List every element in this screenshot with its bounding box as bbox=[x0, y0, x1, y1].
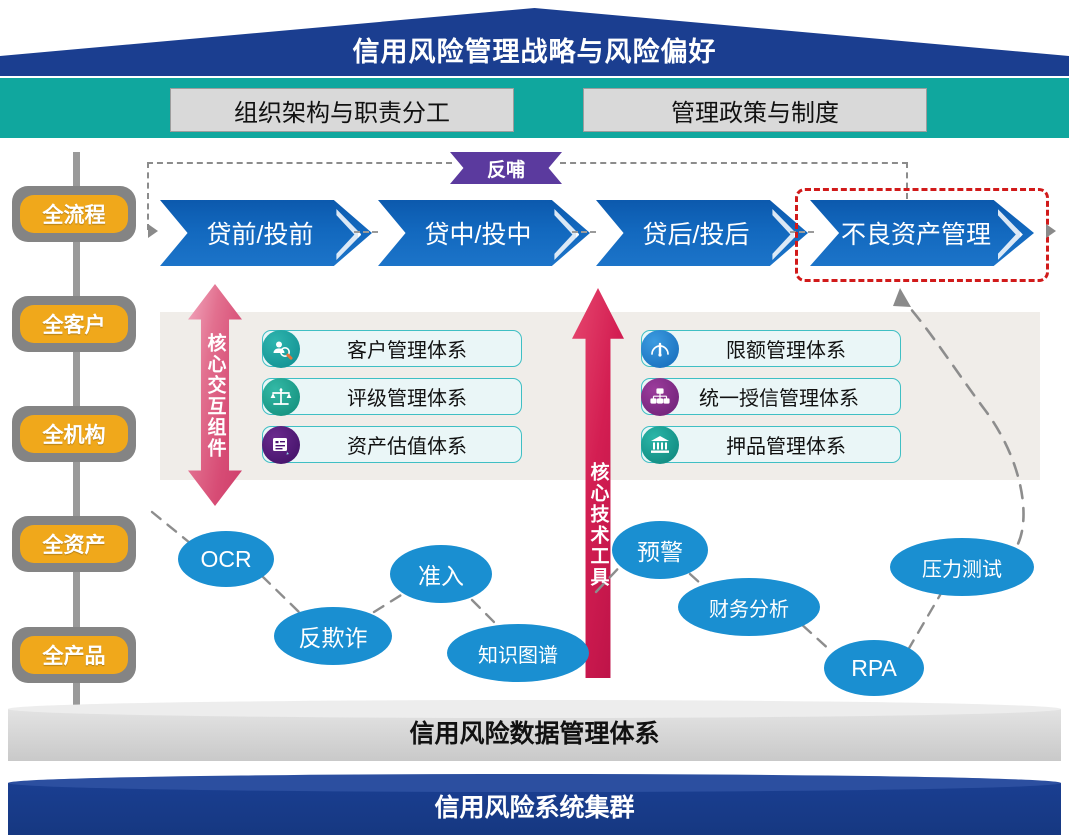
tool-oval-stress-test[interactable]: 压力测试 bbox=[890, 538, 1034, 596]
scales-icon bbox=[262, 378, 300, 416]
npa-highlight-box bbox=[795, 188, 1049, 282]
dimension-label: 全流程 bbox=[20, 195, 128, 233]
roof-banner: 信用风险管理战略与风险偏好 bbox=[0, 8, 1069, 76]
tool-oval-financial-analysis[interactable]: 财务分析 bbox=[678, 578, 820, 636]
tool-oval-access[interactable]: 准入 bbox=[390, 545, 492, 603]
process-connector bbox=[354, 231, 378, 233]
data-layer-cylinder: 信用风险数据管理体系 bbox=[8, 700, 1061, 762]
dimension-pill-process[interactable]: 全流程 bbox=[12, 186, 136, 242]
tool-label: 压力测试 bbox=[922, 553, 1002, 582]
customer-magnifier-icon bbox=[262, 330, 300, 368]
tool-label: 准入 bbox=[418, 557, 464, 591]
tool-oval-ocr[interactable]: OCR bbox=[178, 531, 274, 587]
system-item-limit[interactable]: 限额管理体系 bbox=[641, 330, 901, 367]
system-item-rating[interactable]: 评级管理体系 bbox=[262, 378, 522, 415]
dimension-pill-product[interactable]: 全产品 bbox=[12, 627, 136, 683]
process-stage-postloan[interactable]: 贷后/投后 bbox=[596, 200, 808, 266]
system-layer-cylinder: 信用风险系统集群 bbox=[8, 774, 1061, 836]
system-layer-label: 信用风险系统集群 bbox=[8, 788, 1061, 824]
bank-building-icon bbox=[641, 426, 679, 464]
tool-label: 知识图谱 bbox=[478, 639, 558, 668]
dimension-pill-institution[interactable]: 全机构 bbox=[12, 406, 136, 462]
system-label: 资产估值体系 bbox=[347, 430, 467, 459]
system-label-box: 限额管理体系 bbox=[641, 330, 901, 367]
tool-oval-earlywarning[interactable]: 预警 bbox=[612, 521, 708, 579]
roof-title: 信用风险管理战略与风险偏好 bbox=[0, 30, 1069, 69]
data-layer-label: 信用风险数据管理体系 bbox=[8, 714, 1061, 750]
system-label: 评级管理体系 bbox=[347, 382, 467, 411]
system-label: 限额管理体系 bbox=[726, 334, 846, 363]
feedback-arrowhead bbox=[148, 224, 158, 238]
system-label-box: 客户管理体系 bbox=[262, 330, 522, 367]
core-interactive-components-label-wrap: 核心交互组件 bbox=[188, 308, 242, 484]
tool-oval-antifraud[interactable]: 反欺诈 bbox=[274, 607, 392, 665]
tool-label: OCR bbox=[200, 546, 251, 573]
system-item-credit[interactable]: 统一授信管理体系 bbox=[641, 378, 901, 415]
process-end-arrowhead bbox=[1046, 224, 1056, 238]
process-stage-duringloan[interactable]: 贷中/投中 bbox=[378, 200, 590, 266]
tool-label: 反欺诈 bbox=[299, 619, 368, 653]
system-label-box: 资产估值体系 bbox=[262, 426, 522, 463]
tool-oval-rpa[interactable]: RPA bbox=[824, 640, 924, 696]
system-item-collateral[interactable]: 押品管理体系 bbox=[641, 426, 901, 463]
feedback-line-left bbox=[147, 162, 452, 164]
tool-label: 预警 bbox=[637, 533, 683, 567]
dimension-label: 全客户 bbox=[20, 305, 128, 343]
feedback-line-down-left bbox=[147, 162, 149, 230]
system-item-customer[interactable]: 客户管理体系 bbox=[262, 330, 522, 367]
process-connector bbox=[572, 231, 596, 233]
system-label: 押品管理体系 bbox=[726, 430, 846, 459]
governance-box-org[interactable]: 组织架构与职责分工 bbox=[170, 88, 514, 132]
dimension-label: 全产品 bbox=[20, 636, 128, 674]
system-label: 客户管理体系 bbox=[347, 334, 467, 363]
feedback-banner: 反哺 bbox=[450, 152, 562, 184]
tool-label: 财务分析 bbox=[709, 593, 789, 622]
document-valuation-icon bbox=[262, 426, 300, 464]
process-stage-label: 贷中/投中 bbox=[378, 215, 590, 251]
tool-label: RPA bbox=[851, 655, 897, 682]
dimension-label: 全资产 bbox=[20, 525, 128, 563]
dimension-label: 全机构 bbox=[20, 415, 128, 453]
gauge-icon bbox=[641, 330, 679, 368]
core-interactive-components-label: 核心交互组件 bbox=[206, 333, 225, 459]
system-item-valuation[interactable]: 资产估值体系 bbox=[262, 426, 522, 463]
npa-feedback-arrowhead bbox=[893, 288, 911, 307]
core-technology-tools-label: 核心技术工具 bbox=[589, 462, 608, 588]
dimension-pill-asset[interactable]: 全资产 bbox=[12, 516, 136, 572]
process-stage-preloan[interactable]: 贷前/投前 bbox=[160, 200, 372, 266]
org-chart-icon bbox=[641, 378, 679, 416]
system-label: 统一授信管理体系 bbox=[699, 382, 859, 411]
feedback-line-right bbox=[560, 162, 908, 164]
core-technology-tools-label-wrap: 核心技术工具 bbox=[572, 430, 624, 620]
dimension-pill-customer[interactable]: 全客户 bbox=[12, 296, 136, 352]
diagram-canvas: 信用风险管理战略与风险偏好 组织架构与职责分工 管理政策与制度 全流程 全客户 … bbox=[0, 0, 1069, 840]
governance-box-policy[interactable]: 管理政策与制度 bbox=[583, 88, 927, 132]
process-stage-label: 贷前/投前 bbox=[160, 215, 372, 251]
process-stage-label: 贷后/投后 bbox=[596, 215, 808, 251]
tool-oval-knowledge-graph[interactable]: 知识图谱 bbox=[447, 624, 589, 682]
system-label-box: 评级管理体系 bbox=[262, 378, 522, 415]
system-label-box: 统一授信管理体系 bbox=[641, 378, 901, 415]
system-label-box: 押品管理体系 bbox=[641, 426, 901, 463]
